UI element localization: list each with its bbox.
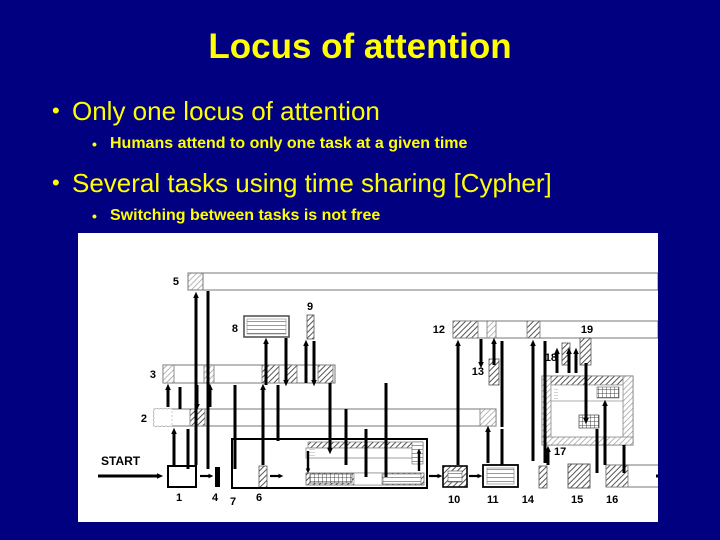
bullet-text: Only one locus of attention bbox=[72, 96, 380, 126]
task-box-10: 10 bbox=[443, 466, 467, 506]
bullet-text: Several tasks using time sharing [Cypher… bbox=[72, 168, 552, 198]
task-bar-16: 16 bbox=[606, 465, 658, 506]
bullet-text: Humans attend to only one task at a give… bbox=[110, 135, 467, 152]
task-box-8: 8 bbox=[232, 316, 289, 337]
svg-text:2: 2 bbox=[141, 413, 147, 425]
bullet-level1-1: •Only one locus of attention bbox=[52, 96, 380, 126]
start-flow-arrow: START bbox=[98, 454, 160, 476]
task-box-1: 1 bbox=[168, 466, 196, 504]
svg-text:16: 16 bbox=[606, 494, 618, 506]
svg-text:14: 14 bbox=[522, 494, 535, 506]
svg-text:11: 11 bbox=[487, 494, 499, 506]
bullet-marker-icon: • bbox=[52, 168, 72, 198]
svg-text:7: 7 bbox=[230, 496, 236, 508]
svg-text:8: 8 bbox=[232, 323, 238, 335]
task-box-19: 19 bbox=[580, 324, 593, 365]
svg-text:9: 9 bbox=[307, 301, 313, 313]
svg-text:19: 19 bbox=[581, 324, 593, 336]
bullet-marker-icon: • bbox=[92, 206, 110, 226]
svg-text:17: 17 bbox=[554, 446, 566, 458]
task-box-4: 4 bbox=[212, 467, 220, 504]
svg-text:18: 18 bbox=[545, 352, 557, 364]
bullet-text: Switching between tasks is not free bbox=[110, 207, 380, 224]
task-box-15: 15 bbox=[568, 464, 590, 506]
slide-canvas: Locus of attention •Only one locus of at… bbox=[0, 0, 720, 540]
task-box-11: 11 bbox=[483, 465, 518, 506]
task-bar-12: 12 bbox=[433, 321, 658, 338]
bullet-level2-1: •Humans attend to only one task at a giv… bbox=[92, 134, 467, 154]
svg-text:15: 15 bbox=[571, 494, 583, 506]
page-title: Locus of attention bbox=[0, 27, 720, 67]
figure-svg: 5 12 3 bbox=[78, 233, 658, 522]
svg-text:5: 5 bbox=[173, 276, 179, 288]
task-box-6: 6 bbox=[256, 466, 267, 504]
figure-ink: 5 12 3 bbox=[98, 273, 658, 508]
svg-text:3: 3 bbox=[150, 369, 156, 381]
svg-text:1: 1 bbox=[176, 492, 182, 504]
bullet-level2-2: •Switching between tasks is not free bbox=[92, 206, 380, 226]
svg-text:12: 12 bbox=[433, 324, 445, 336]
svg-text:10: 10 bbox=[448, 494, 460, 506]
task-box-14: 14 bbox=[522, 466, 547, 506]
task-box-9: 9 bbox=[307, 301, 314, 339]
svg-text:4: 4 bbox=[212, 492, 219, 504]
task-bar-5: 5 bbox=[173, 273, 658, 290]
bullet-level1-2: •Several tasks using time sharing [Cyphe… bbox=[52, 168, 552, 198]
bullet-marker-icon: • bbox=[52, 96, 72, 126]
bullet-marker-icon: • bbox=[92, 134, 110, 154]
svg-text:6: 6 bbox=[256, 492, 262, 504]
cypher-timeline-figure: 5 12 3 bbox=[78, 233, 658, 522]
svg-text:13: 13 bbox=[472, 366, 484, 378]
svg-text:START: START bbox=[101, 454, 141, 468]
task-bar-2: 2 bbox=[141, 409, 496, 426]
